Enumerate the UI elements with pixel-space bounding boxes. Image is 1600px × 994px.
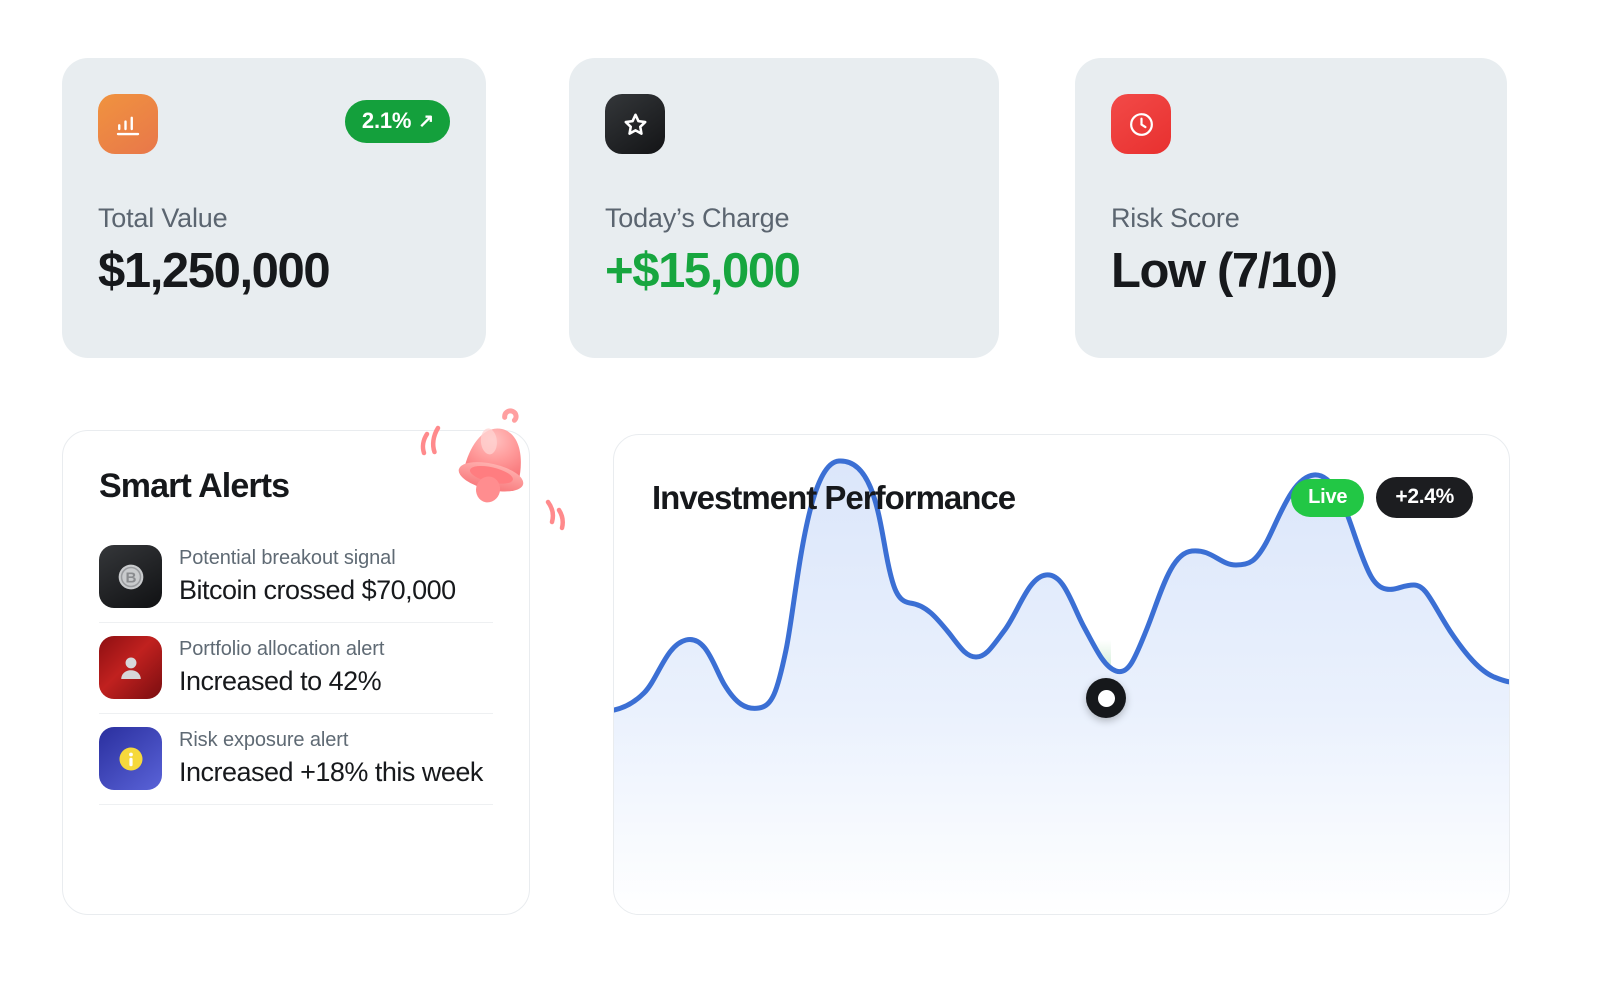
chart-header: Investment Performance Live +2.4% [614, 435, 1509, 518]
list-item[interactable]: Portfolio allocation alert Increased to … [99, 623, 493, 714]
investment-performance-panel: Investment Performance Live +2.4% [613, 434, 1510, 915]
dashboard-page: 2.1% ↗ Total Value $1,250,000 Today’s Ch… [0, 0, 1600, 994]
alert-texts: Risk exposure alert Increased +18% this … [179, 729, 483, 788]
alerts-list: B Potential breakout signal Bitcoin cros… [99, 532, 493, 805]
stat-label-total-value: Total Value [98, 203, 450, 234]
stat-value-risk-score: Low (7/10) [1111, 243, 1471, 299]
delta-value: 2.1% [362, 108, 411, 134]
card-header [1111, 94, 1471, 156]
alert-texts: Potential breakout signal Bitcoin crosse… [179, 547, 456, 606]
alert-subtitle: Portfolio allocation alert [179, 638, 384, 661]
arrow-up-right-icon: ↗ [418, 112, 434, 131]
status-badge-live: Live [1291, 479, 1364, 517]
smart-alerts-panel: Smart Alerts B Potential breakout signal… [62, 430, 530, 915]
status-badge-change: +2.4% [1376, 477, 1473, 518]
alert-title: Increased +18% this week [179, 757, 483, 788]
marker-dot-inner [1098, 690, 1115, 707]
list-item[interactable]: B Potential breakout signal Bitcoin cros… [99, 532, 493, 623]
card-header: 2.1% ↗ [98, 94, 450, 156]
stat-card-todays-charge[interactable]: Today’s Charge +$15,000 [569, 58, 999, 358]
stat-label-risk-score: Risk Score [1111, 203, 1471, 234]
chart-area-fill [614, 461, 1510, 915]
smart-alerts-title: Smart Alerts [99, 467, 493, 506]
stat-card-total-value[interactable]: 2.1% ↗ Total Value $1,250,000 [62, 58, 486, 358]
card-header [605, 94, 963, 156]
bitcoin-icon: B [99, 545, 162, 608]
delta-badge-total-value: 2.1% ↗ [345, 100, 450, 143]
list-item[interactable]: Risk exposure alert Increased +18% this … [99, 714, 493, 805]
chart-title: Investment Performance [652, 479, 1015, 517]
alert-subtitle: Potential breakout signal [179, 547, 456, 570]
stat-label-todays-charge: Today’s Charge [605, 203, 963, 234]
alert-subtitle: Risk exposure alert [179, 729, 483, 752]
info-icon [99, 727, 162, 790]
bar-chart-icon [98, 94, 158, 154]
alert-texts: Portfolio allocation alert Increased to … [179, 638, 384, 697]
star-icon [605, 94, 665, 154]
person-icon [99, 636, 162, 699]
alert-title: Bitcoin crossed $70,000 [179, 575, 456, 606]
svg-text:B: B [125, 569, 136, 586]
chart-marker-dot[interactable] [1086, 678, 1126, 718]
stat-card-risk-score[interactable]: Risk Score Low (7/10) [1075, 58, 1507, 358]
stat-value-total-value: $1,250,000 [98, 243, 450, 299]
stat-value-todays-charge: +$15,000 [605, 243, 963, 299]
clock-icon [1111, 94, 1171, 154]
alert-title: Increased to 42% [179, 666, 384, 697]
chart-badges: Live +2.4% [1291, 477, 1473, 518]
